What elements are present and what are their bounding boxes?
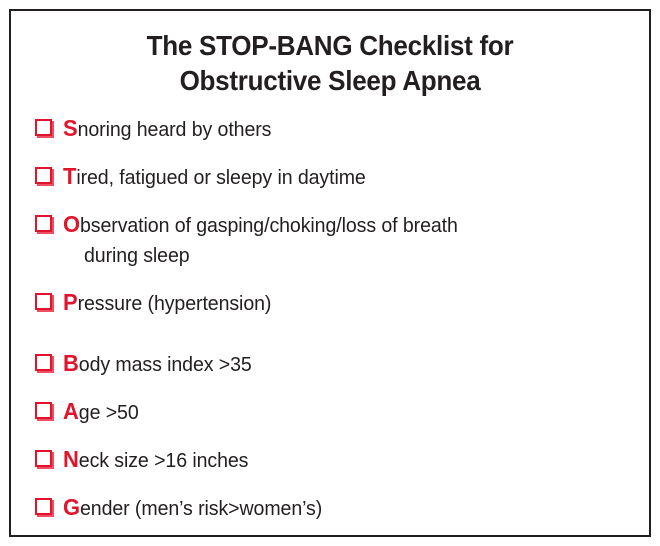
empty-checkbox-icon[interactable] [35,354,52,371]
list-item-initial: A [63,398,79,424]
list-item-text-continued: during sleep [63,241,611,271]
list-item[interactable]: Pressure (hypertension) [11,287,649,319]
list-item[interactable]: Age >50 [11,396,649,428]
list-item[interactable]: Neck size >16 inches [11,444,649,476]
list-item-initial: B [63,350,79,376]
list-item-label: Neck size >16 inches [63,444,611,476]
list-item[interactable]: Body mass index >35 [11,348,649,380]
list-item[interactable]: Snoring heard by others [11,113,649,145]
list-item-label: Age >50 [63,396,611,428]
empty-checkbox-icon[interactable] [35,293,52,310]
page-title: The STOP-BANG Checklist for Obstructive … [11,11,649,98]
list-item-text: ge >50 [79,401,139,424]
title-line-2: Obstructive Sleep Apnea [33,63,626,98]
list-item-initial: P [63,289,78,315]
empty-checkbox-icon[interactable] [35,167,52,184]
list-item-label: Snoring heard by others [63,113,611,145]
empty-checkbox-icon[interactable] [35,450,52,467]
empty-checkbox-icon[interactable] [35,402,52,419]
list-item-label: Tired, fatigued or sleepy in daytime [63,161,611,193]
list-item-initial: G [63,494,80,520]
list-item-text: eck size >16 inches [79,449,249,472]
list-item-label: Pressure (hypertension) [63,287,611,319]
list-item-initial: T [63,163,76,189]
list-item-text: ender (men’s risk>women’s) [80,497,322,520]
list-item[interactable]: Tired, fatigued or sleepy in daytime [11,161,649,193]
list-item-text: ressure (hypertension) [78,292,272,315]
stop-bang-checklist-card: The STOP-BANG Checklist for Obstructive … [9,9,651,537]
list-item[interactable]: Observation of gasping/choking/loss of b… [11,209,649,271]
title-line-1: The STOP-BANG Checklist for [33,28,626,63]
list-item[interactable]: Gender (men’s risk>women’s) [11,492,649,524]
list-item-initial: S [63,115,78,141]
list-item-text: ody mass index >35 [79,353,252,376]
list-item-initial: N [63,446,79,472]
list-item-label: Observation of gasping/choking/loss of b… [63,209,611,271]
list-item-label: Gender (men’s risk>women’s) [63,492,611,524]
list-item-label: Body mass index >35 [63,348,611,380]
list-item-text: ired, fatigued or sleepy in daytime [76,166,365,189]
list-item-text: noring heard by others [78,118,272,141]
empty-checkbox-icon[interactable] [35,215,52,232]
empty-checkbox-icon[interactable] [35,119,52,136]
list-item-text: bservation of gasping/choking/loss of br… [80,214,458,237]
checklist: Snoring heard by othersTired, fatigued o… [11,113,649,524]
list-item-initial: O [63,211,80,237]
empty-checkbox-icon[interactable] [35,498,52,515]
